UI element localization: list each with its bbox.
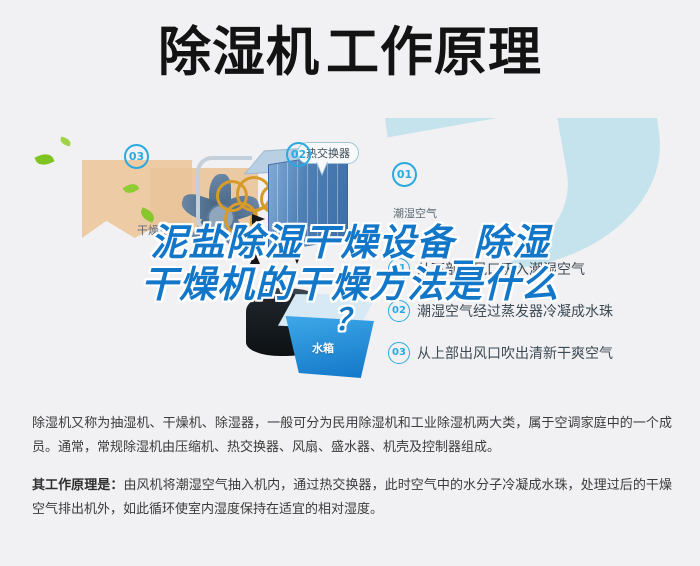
steps-legend: 01 从下部进风口吸入潮湿空气 02 潮湿空气经过蒸发器冷凝成水珠 03 从上部…: [388, 258, 688, 384]
legend-badge-02: 02: [388, 300, 410, 322]
leaf-icon: [35, 151, 55, 168]
marker-02: 02: [286, 142, 311, 167]
legend-item: 01 从下部进风口吸入潮湿空气: [388, 258, 688, 280]
legend-text-03: 从上部出风口吹出清新干爽空气: [417, 343, 613, 363]
water-tank-label: 水箱: [312, 340, 334, 356]
wet-air-label: 潮湿空气: [393, 205, 437, 221]
airflow-arrow-right-icon: [252, 214, 265, 224]
leaf-icon: [59, 136, 72, 146]
heat-exchanger-block: [268, 152, 348, 253]
airflow-arrow-down-icon: [292, 252, 302, 264]
title-part-1: 除湿机: [158, 22, 320, 83]
marker-03: 03: [124, 144, 149, 169]
legend-item: 02 潮湿空气经过蒸发器冷凝成水珠: [388, 300, 688, 322]
paragraph-2-rest: 由风机将潮湿空气抽入机内，通过热交换器，此时空气中的水分子冷凝成水珠，处理过后的…: [32, 478, 672, 517]
legend-badge-01: 01: [388, 258, 410, 280]
legend-text-02: 潮湿空气经过蒸发器冷凝成水珠: [417, 301, 613, 321]
marker-01: 01: [392, 162, 417, 187]
dehumidifier-illustration: 水箱 热交换器 03 02 01 干燥空气 潮湿空气 01 从下部进风口吸入潮湿…: [0, 118, 700, 403]
dry-air-label: 干燥空气: [137, 222, 181, 238]
paragraph-1: 除湿机又称为抽湿机、干燥机、除湿器，一般可分为民用除湿机和工业除湿机两大类，属于…: [32, 412, 672, 460]
legend-badge-03: 03: [388, 342, 410, 364]
paragraph-2-lead: 其工作原理是：: [32, 478, 123, 493]
airflow-arrow-up-icon: [250, 252, 260, 264]
title-part-2: 工作原理: [326, 22, 542, 83]
page-title: 除湿机工作原理: [0, 22, 700, 84]
paragraph-2: 其工作原理是：由风机将潮湿空气抽入机内，通过热交换器，此时空气中的水分子冷凝成水…: [32, 474, 672, 522]
legend-text-01: 从下部进风口吸入潮湿空气: [417, 259, 585, 279]
page-root: 除湿机工作原理: [0, 0, 700, 566]
body-copy: 除湿机又称为抽湿机、干燥机、除湿器，一般可分为民用除湿机和工业除湿机两大类，属于…: [32, 412, 672, 536]
legend-item: 03 从上部出风口吹出清新干爽空气: [388, 342, 688, 364]
